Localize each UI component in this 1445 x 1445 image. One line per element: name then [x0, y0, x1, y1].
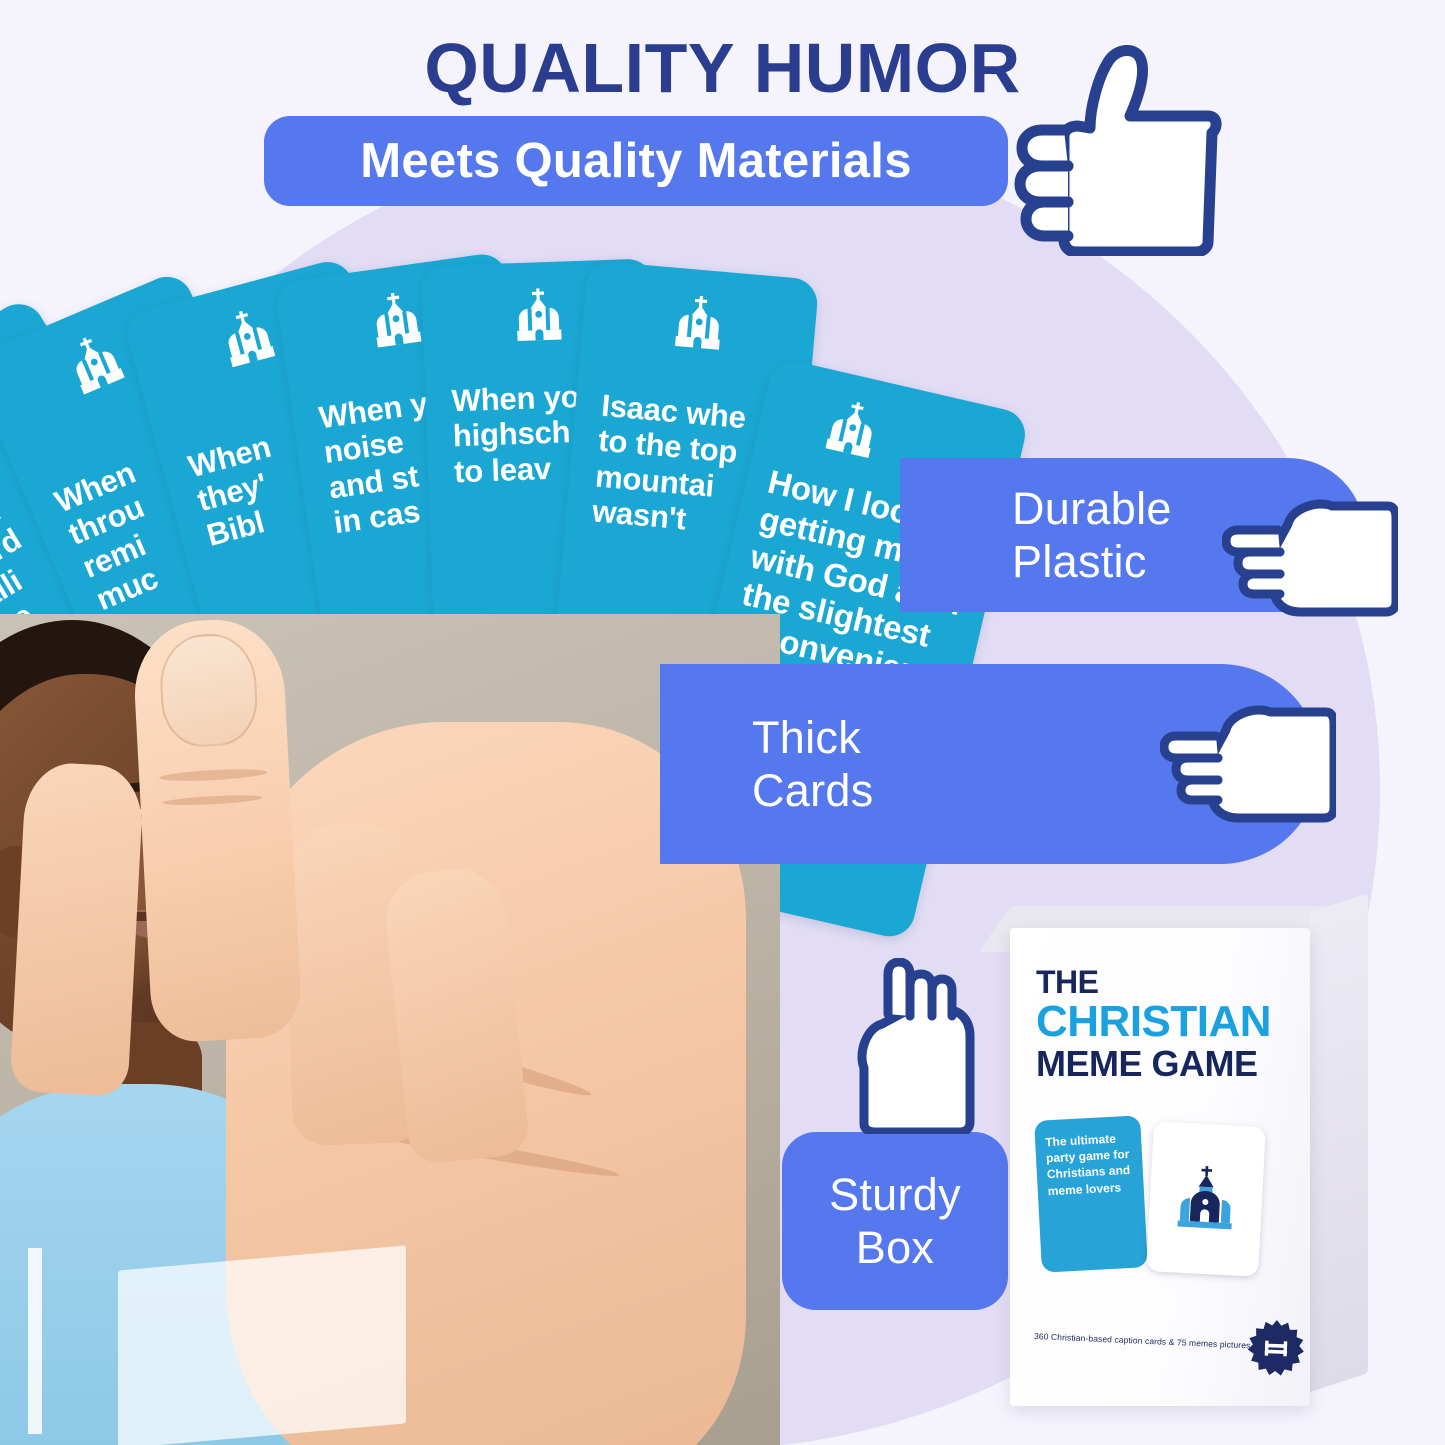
box-front-panel: THE CHRISTIAN MEME GAME The ultimate par… — [1010, 928, 1310, 1406]
feature-label: Thick Cards — [752, 711, 874, 817]
starburst-badge-icon — [1247, 1319, 1305, 1377]
feature-label: Durable Plastic — [1012, 482, 1172, 588]
box-title: THE CHRISTIAN MEME GAME — [1036, 966, 1298, 1082]
card-stand — [118, 1245, 406, 1445]
pointing-hand-icon — [1160, 694, 1336, 832]
pointing-hand-icon — [1222, 488, 1398, 626]
thumbnail — [158, 632, 260, 749]
card-stand-rib — [28, 1248, 42, 1434]
subtitle-text: Meets Quality Materials — [360, 133, 912, 189]
church-icon — [60, 328, 131, 402]
box-footnote: 360 Christian-based caption cards & 75 m… — [1034, 1331, 1264, 1351]
hand-thumb — [131, 616, 303, 1043]
box-title-christian: CHRISTIAN — [1036, 1000, 1298, 1044]
box-meme-card — [1146, 1121, 1266, 1277]
page-title: QUALITY HUMOR — [0, 28, 1445, 108]
thumbs-up-icon — [1012, 36, 1222, 256]
church-icon — [215, 305, 280, 374]
box-side-panel — [1310, 893, 1368, 1392]
church-icon — [1175, 1165, 1236, 1234]
church-icon — [367, 289, 427, 354]
feature-label: Sturdy Box — [782, 1168, 1008, 1274]
box-title-the: THE — [1036, 966, 1298, 998]
hand-finger — [9, 761, 144, 1097]
product-box: THE CHRISTIAN MEME GAME The ultimate par… — [1010, 906, 1368, 1406]
feature-sturdy-box[interactable]: Sturdy Box — [782, 1132, 1008, 1310]
church-icon — [820, 397, 884, 465]
box-tagline-text: The ultimate party game for Christians a… — [1045, 1132, 1131, 1198]
box-tagline-card: The ultimate party game for Christians a… — [1034, 1115, 1148, 1272]
subtitle-banner: Meets Quality Materials — [264, 116, 1008, 206]
church-icon — [671, 294, 728, 356]
pointing-down-hand-icon — [846, 958, 984, 1134]
church-icon — [512, 287, 566, 347]
product-marketing-image: QUALITY HUMOR Meets Quality Materials — [0, 0, 1445, 1445]
box-title-meme-game: MEME GAME — [1036, 1046, 1298, 1082]
